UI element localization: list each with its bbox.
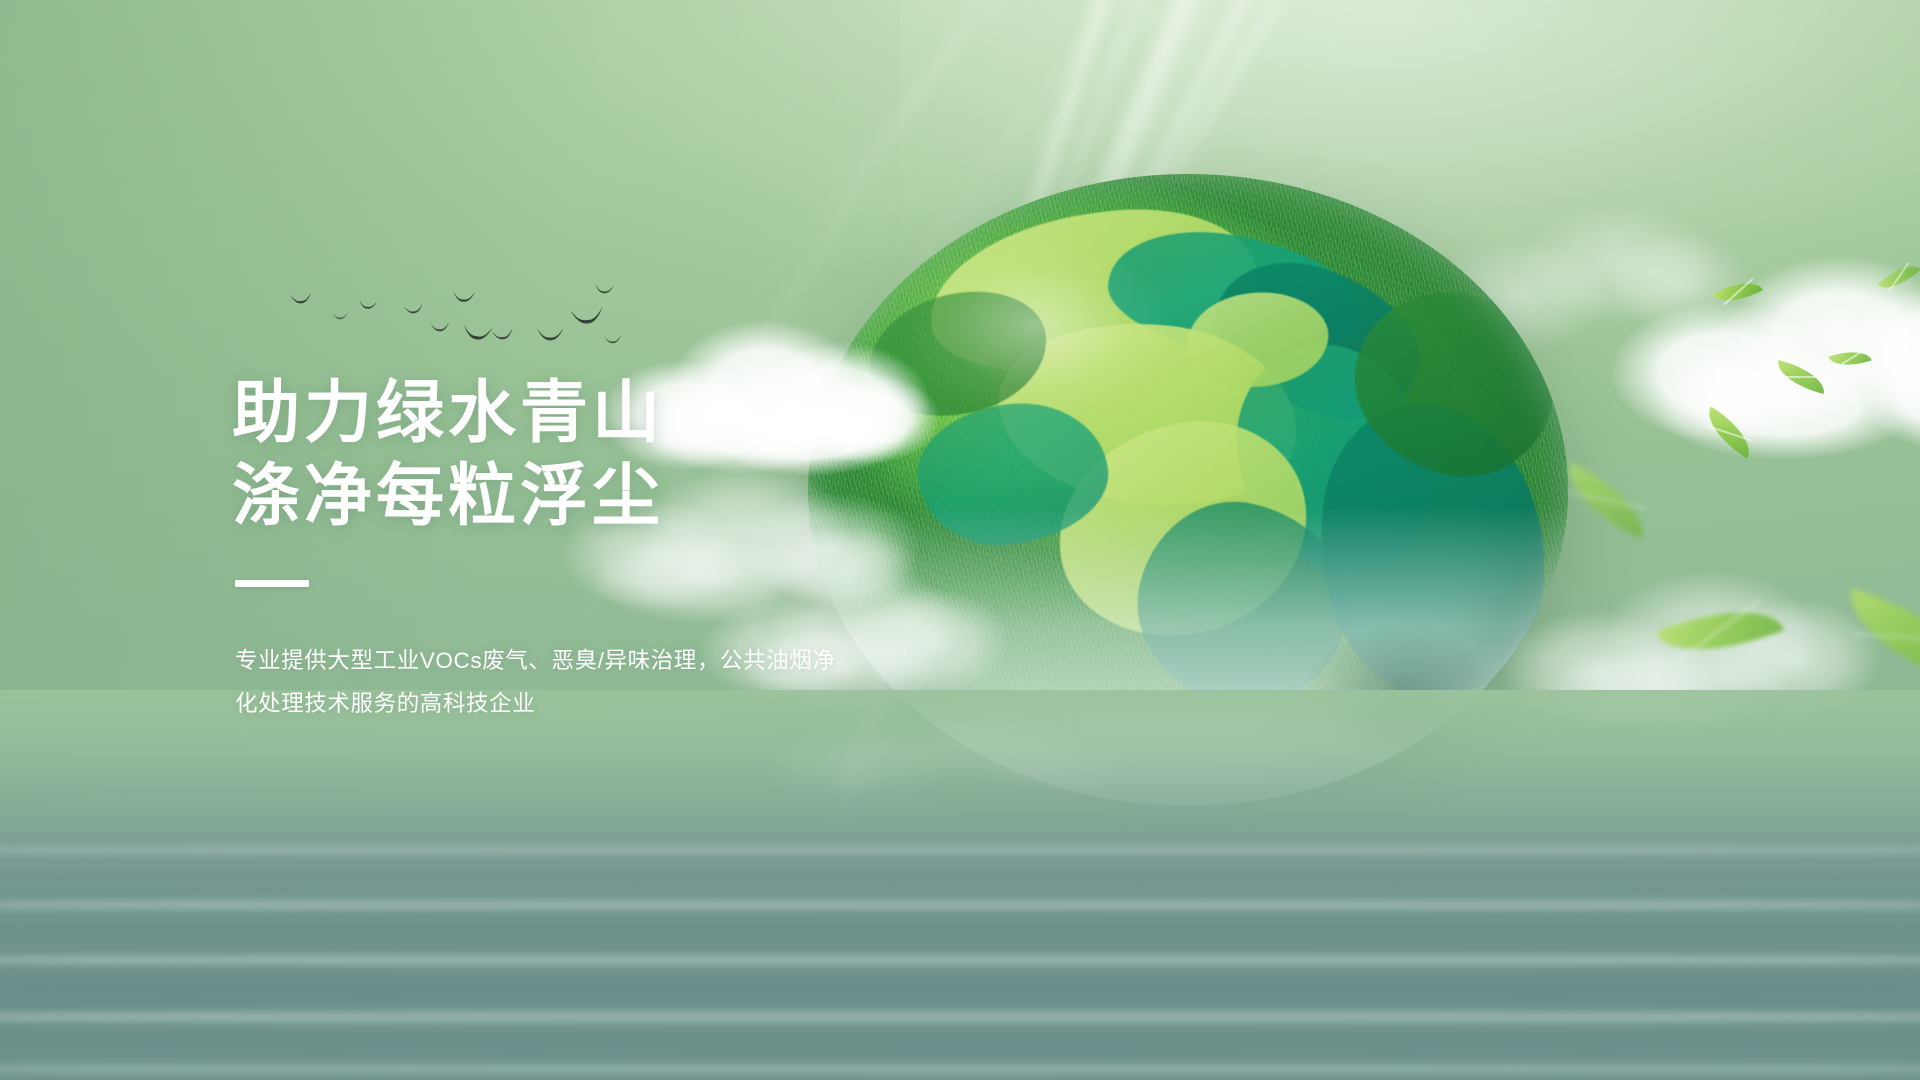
water-ripple	[0, 1062, 1920, 1076]
globe-landmass	[1042, 404, 1325, 654]
banner-copy: 助力绿水青山 涤净每粒浮尘 专业提供大型工业VOCs废气、恶臭/异味治理，公共油…	[232, 372, 992, 725]
bird-icon	[430, 320, 451, 339]
banner-subcopy: 专业提供大型工业VOCs废气、恶臭/异味治理，公共油烟净 化处理技术服务的高科技…	[235, 639, 875, 725]
subcopy-line-2: 化处理技术服务的高科技企业	[235, 682, 875, 725]
bird-icon	[332, 308, 349, 327]
bird-icon	[451, 289, 475, 310]
bird-icon	[357, 297, 378, 317]
globe-landmass	[1120, 484, 1367, 723]
flying-birds-flock	[286, 236, 746, 352]
globe-landmass	[1099, 215, 1366, 377]
headline-line-2: 涤净每粒浮尘	[232, 455, 992, 538]
bird-icon	[569, 305, 605, 333]
globe-landmass	[1335, 272, 1568, 495]
globe-landmass	[989, 309, 1306, 519]
bird-icon	[461, 322, 494, 350]
bird-icon	[403, 301, 425, 322]
banner-stage: 助力绿水青山 涤净每粒浮尘 专业提供大型工业VOCs废气、恶臭/异味治理，公共油…	[0, 0, 1920, 1080]
bird-icon	[536, 326, 565, 349]
bird-icon	[491, 327, 515, 348]
title-divider	[235, 580, 309, 587]
bird-icon	[593, 281, 615, 301]
water-ripple	[0, 845, 1920, 855]
subcopy-line-1: 专业提供大型工业VOCs废气、恶臭/异味治理，公共油烟净	[235, 639, 875, 682]
bird-icon	[289, 291, 312, 311]
globe-landmass	[1196, 241, 1439, 439]
bird-icon	[604, 332, 623, 351]
page-title: 助力绿水青山 涤净每粒浮尘	[232, 372, 992, 538]
globe-landmass	[1185, 287, 1331, 393]
globe-landmass	[1230, 338, 1436, 581]
globe-landmass	[919, 192, 1267, 386]
headline-line-1: 助力绿水青山	[232, 372, 992, 455]
globe-landmass	[1299, 391, 1567, 710]
